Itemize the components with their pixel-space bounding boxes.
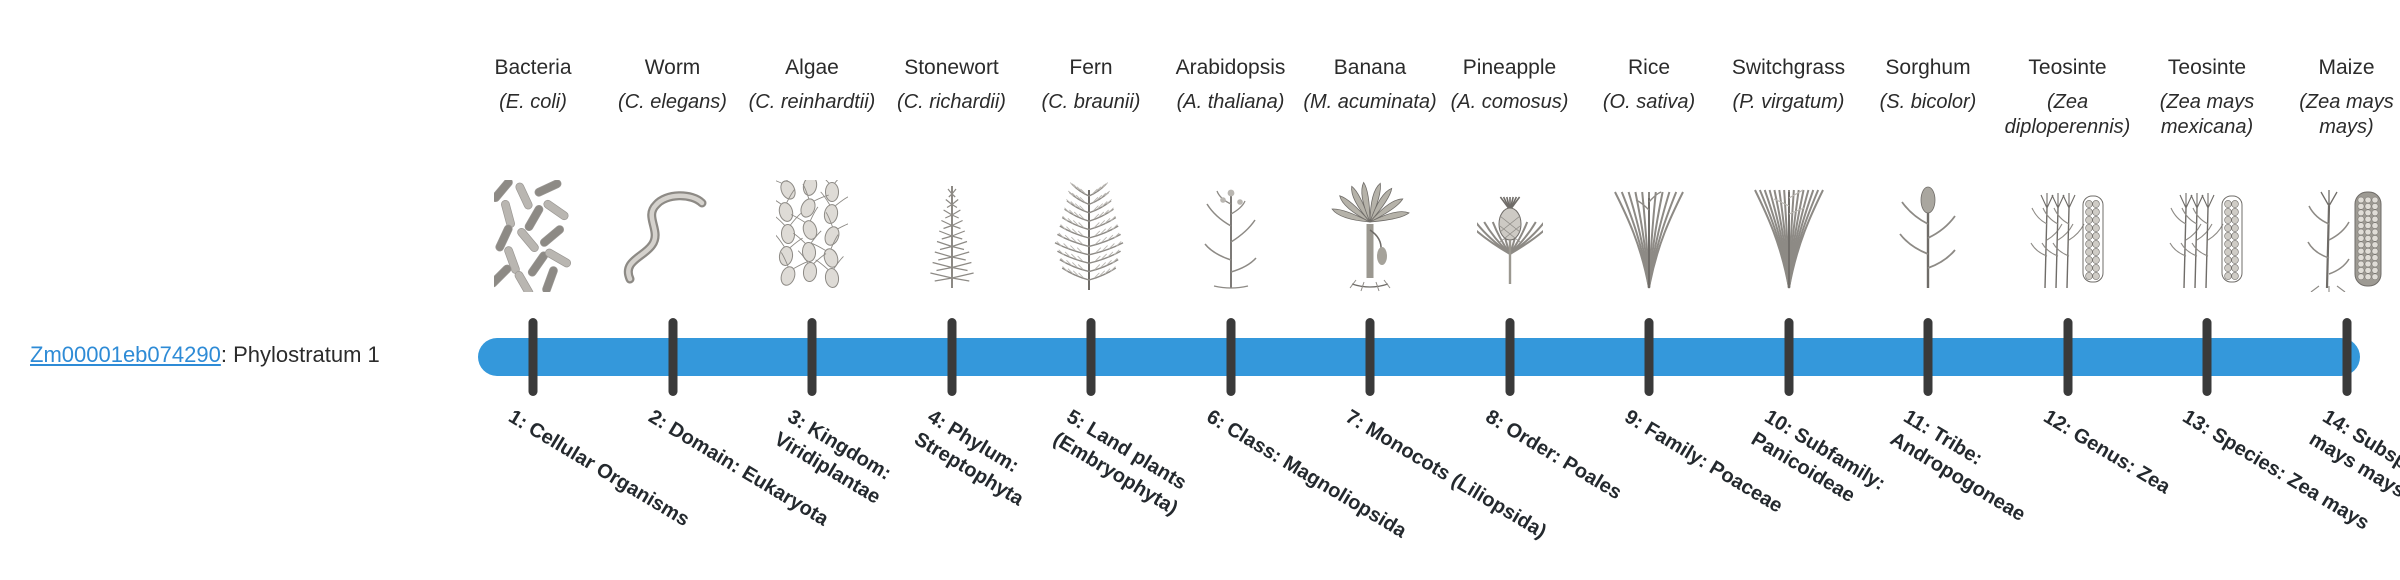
gene-id-link[interactable]: Zm00001eb074290 [30,342,221,367]
species-latin-name: (C. reinhardtii) [738,90,886,115]
species-column-12: Teosinte(Zea diploperennis) [1998,0,2138,310]
species-latin-name: (Zea diploperennis) [1994,90,2142,140]
species-latin-name: (E. coli) [459,90,607,115]
nematode-worm-icon [605,182,741,292]
species-latin-name: (A. comosus) [1436,90,1584,115]
species-column-4: Stonewort(C. richardii) [882,0,1022,310]
phylostratum-tick-8[interactable] [1505,318,1514,396]
species-common-name: Algae [785,55,839,81]
phylostratum-value: Phylostratum 1 [233,342,380,367]
species-latin-name: (C. elegans) [599,90,747,115]
phylostratum-tick-7[interactable] [1366,318,1375,396]
bacteria-rods-icon [465,182,601,292]
rank-name: Genus: Zea [2069,423,2174,498]
phylostratum-tick-1[interactable] [529,318,538,396]
species-common-name: Stonewort [904,55,999,81]
rank-index: 4: [923,406,950,434]
gene-phylostratum-label: Zm00001eb074290: Phylostratum 1 [30,340,380,370]
phylostratum-tick-2[interactable] [668,318,677,396]
species-column-2: Worm(C. elegans) [603,0,743,310]
species-column-6: Arabidopsis(A. thaliana) [1161,0,1301,310]
species-column-14: Maize(Zea mays mays) [2277,0,2400,310]
species-column-3: Algae(C. reinhardtii) [742,0,882,310]
phylostratum-tick-4[interactable] [947,318,956,396]
species-common-name: Sorghum [1885,55,1970,81]
switchgrass-plant-icon [1721,182,1857,292]
species-common-name: Arabidopsis [1176,55,1286,81]
phylostratum-tick-9[interactable] [1645,318,1654,396]
species-common-name: Worm [645,55,701,81]
species-column-7: Banana(M. acuminata) [1300,0,1440,310]
rank-index: 12: [2039,406,2075,440]
species-latin-name: (P. virgatum) [1715,90,1863,115]
species-column-10: Switchgrass(P. virgatum) [1719,0,1859,310]
phylostratum-tick-10[interactable] [1784,318,1793,396]
species-common-name: Bacteria [494,55,571,81]
phylostratum-bar[interactable] [478,338,2360,376]
stonewort-icon [884,182,1020,292]
teosinte-plant-ear-icon [2000,182,2136,292]
species-common-name: Teosinte [2028,55,2106,81]
phylostratum-tick-11[interactable] [1924,318,1933,396]
rank-index: 13: [2179,406,2215,440]
rank-index: 6: [1202,406,1229,434]
banana-plant-icon [1302,182,1438,292]
chlamydomonas-algae-icon [744,182,880,292]
species-latin-name: (M. acuminata) [1296,90,1444,115]
gene-label-separator: : [221,342,233,367]
pineapple-plant-icon [1442,182,1578,292]
species-latin-name: (O. sativa) [1575,90,1723,115]
phylostratum-tick-3[interactable] [808,318,817,396]
fern-frond-icon [1023,182,1159,292]
species-header-row: Bacteria(E. coli)Worm(C. elegans) Algae(… [0,0,2400,310]
species-column-8: Pineapple(A. comosus) [1440,0,1580,310]
phylostratum-tick-13[interactable] [2203,318,2212,396]
phylostratum-tick-14[interactable] [2342,318,2351,396]
species-latin-name: (A. thaliana) [1157,90,1305,115]
species-column-11: Sorghum(S. bicolor) [1858,0,1998,310]
species-common-name: Teosinte [2168,55,2246,81]
species-common-name: Fern [1069,55,1112,81]
phylostratum-figure: Bacteria(E. coli)Worm(C. elegans) Algae(… [0,0,2400,580]
sorghum-plant-icon [1860,182,1996,292]
species-latin-name: (S. bicolor) [1854,90,2002,115]
phylostratum-tick-12[interactable] [2063,318,2072,396]
species-common-name: Pineapple [1463,55,1556,81]
rice-plant-icon [1581,182,1717,292]
phylostratum-tick-6[interactable] [1226,318,1235,396]
species-latin-name: (C. braunii) [1017,90,1165,115]
species-column-5: Fern(C. braunii) [1021,0,1161,310]
species-common-name: Maize [2318,55,2374,81]
species-common-name: Rice [1628,55,1670,81]
phylostratum-tick-5[interactable] [1087,318,1096,396]
species-common-name: Banana [1334,55,1406,81]
species-column-9: Rice(O. sativa) [1579,0,1719,310]
rank-index: 8: [1481,406,1508,434]
teosinte-plant-ear-icon [2139,182,2275,292]
maize-plant-ear-icon [2279,182,2400,292]
species-latin-name: (C. richardii) [878,90,1026,115]
rank-index: 2: [644,406,671,434]
species-column-1: Bacteria(E. coli) [463,0,603,310]
rank-name: Order: Poales [1501,418,1625,504]
arabidopsis-plant-icon [1163,182,1299,292]
species-latin-name: (Zea mays mays) [2273,90,2400,140]
species-common-name: Switchgrass [1732,55,1845,81]
species-latin-name: (Zea mays mexicana) [2133,90,2281,140]
species-column-13: Teosinte(Zea mays mexicana) [2137,0,2277,310]
